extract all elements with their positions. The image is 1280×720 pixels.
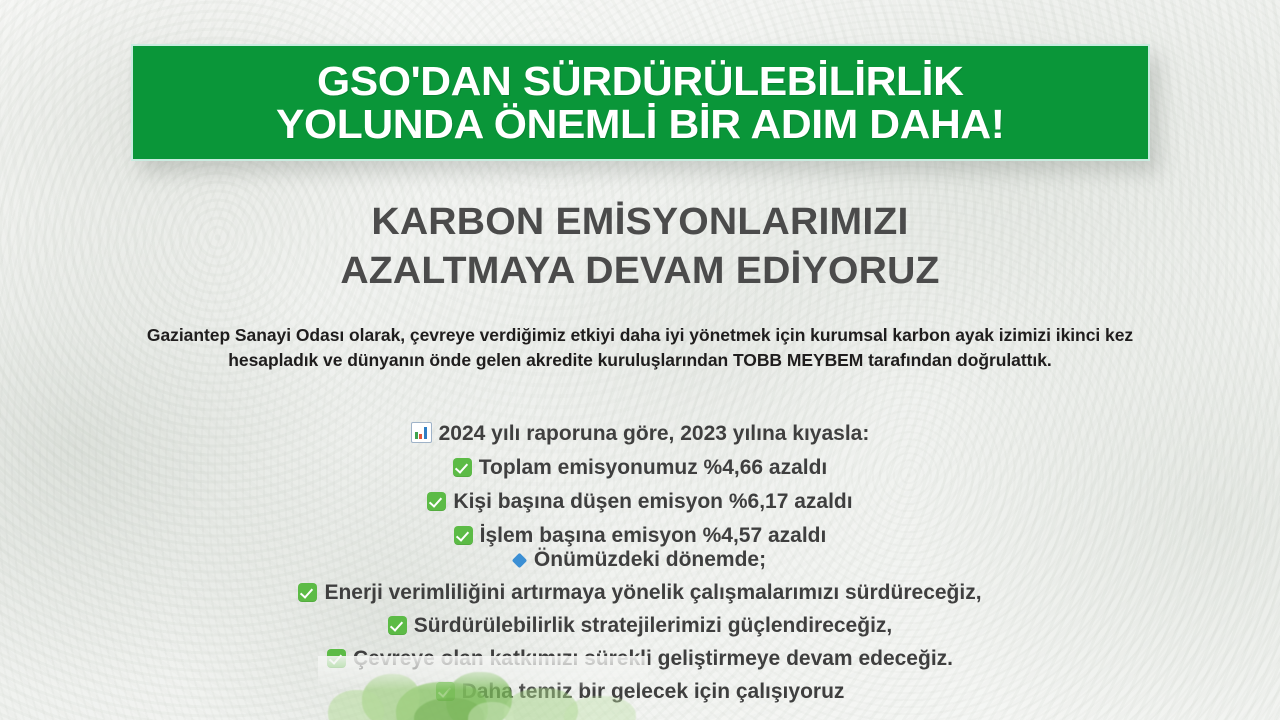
results-list: 2024 yılı raporuna göre, 2023 yılına kıy… [0, 420, 1280, 556]
check-mark-icon [298, 583, 317, 602]
check-mark-icon [427, 492, 446, 511]
check-mark-icon [454, 526, 473, 545]
check-mark-icon [453, 458, 472, 477]
commitments-list-heading-label: Önümüzdeki dönemde; [534, 548, 766, 571]
list-item: Toplam emisyonumuz %4,66 azaldı [0, 454, 1280, 482]
commitments-list: Önümüzdeki dönemde; Enerji verimliliğini… [0, 546, 1280, 711]
poster-canvas: GSO'DAN SÜRDÜRÜLEBİLİRLİK YOLUNDA ÖNEMLİ… [0, 0, 1280, 720]
commitments-list-heading: Önümüzdeki dönemde; [0, 546, 1280, 574]
list-item: Çevreye olan katkımızı sürekli geliştirm… [0, 645, 1280, 673]
results-list-heading: 2024 yılı raporuna göre, 2023 yılına kıy… [0, 420, 1280, 448]
headline-banner-text: GSO'DAN SÜRDÜRÜLEBİLİRLİK YOLUNDA ÖNEMLİ… [262, 60, 1020, 144]
bar-chart-bar-2 [419, 434, 422, 439]
check-mark-icon [436, 682, 455, 701]
list-item: Daha temiz bir gelecek için çalışıyoruz [0, 678, 1280, 706]
check-mark-icon [388, 616, 407, 635]
list-item-label: Çevreye olan katkımızı sürekli geliştirm… [353, 647, 953, 670]
list-item-label: Sürdürülebilirlik stratejilerimizi güçle… [414, 614, 892, 637]
list-item-label: Toplam emisyonumuz %4,66 azaldı [479, 456, 828, 479]
list-item-label: Kişi başına düşen emisyon %6,17 azaldı [453, 490, 852, 513]
intro-paragraph: Gaziantep Sanayi Odası olarak, çevreye v… [140, 323, 1140, 374]
blue-diamond-icon [512, 553, 528, 569]
list-item: Kişi başına düşen emisyon %6,17 azaldı [0, 488, 1280, 516]
check-mark-icon [327, 649, 346, 668]
list-item: Enerji verimliliğini artırmaya yönelik ç… [0, 579, 1280, 607]
headline-line-2: YOLUNDA ÖNEMLİ BİR ADIM DAHA! [276, 103, 1005, 145]
list-item-label: Enerji verimliliğini artırmaya yönelik ç… [324, 581, 981, 604]
subheading: KARBON EMİSYONLARIMIZI AZALTMAYA DEVAM E… [0, 198, 1280, 295]
list-item-label: İşlem başına emisyon %4,57 azaldı [480, 524, 827, 547]
bar-chart-bar-1 [415, 432, 418, 439]
subheading-line-1: KARBON EMİSYONLARIMIZI [0, 198, 1280, 247]
list-item-label: Daha temiz bir gelecek için çalışıyoruz [462, 680, 845, 703]
subheading-line-2: AZALTMAYA DEVAM EDİYORUZ [0, 247, 1280, 296]
bar-chart-icon [411, 422, 432, 443]
headline-banner: GSO'DAN SÜRDÜRÜLEBİLİRLİK YOLUNDA ÖNEMLİ… [131, 44, 1150, 161]
headline-line-1: GSO'DAN SÜRDÜRÜLEBİLİRLİK [276, 60, 1005, 102]
results-list-heading-label: 2024 yılı raporuna göre, 2023 yılına kıy… [439, 422, 870, 445]
bar-chart-bar-3 [424, 427, 427, 439]
list-item: Sürdürülebilirlik stratejilerimizi güçle… [0, 612, 1280, 640]
